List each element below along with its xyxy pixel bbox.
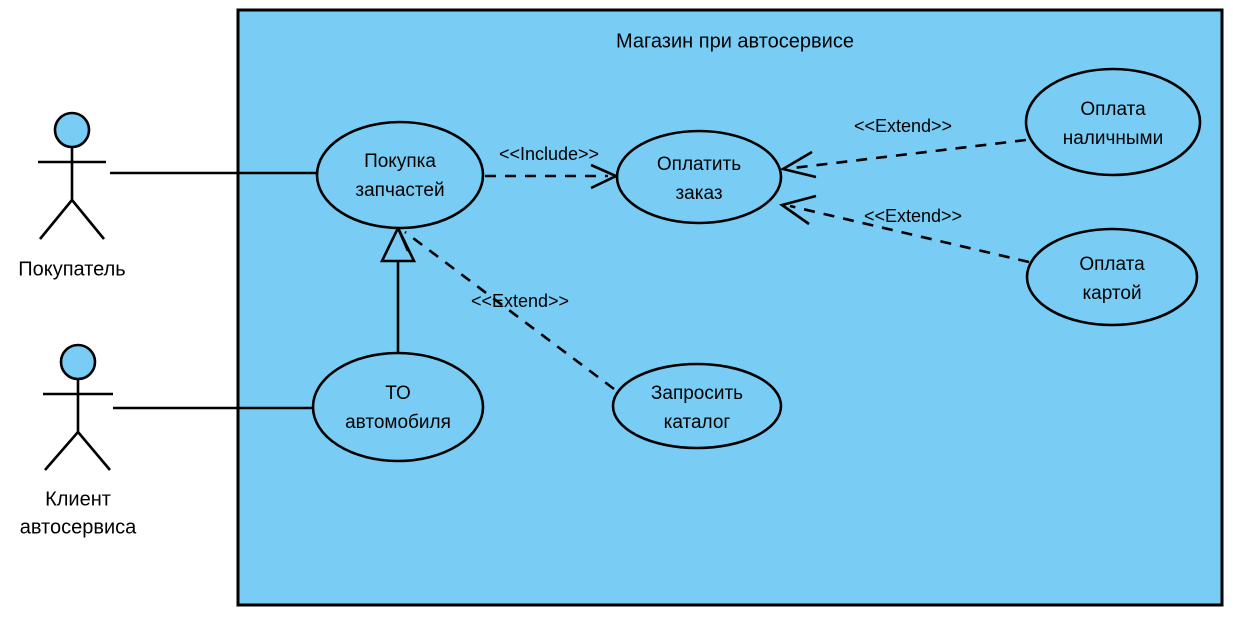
use-case-label-line-1: Запросить bbox=[651, 383, 743, 404]
use-case-diagram: Магазин при автосервисе <<Include>> <<Ex… bbox=[0, 0, 1233, 621]
include-stereotype-label: <<Include>> bbox=[499, 144, 599, 164]
use-case-zaprosit-katalog[interactable]: Запросить каталог bbox=[613, 364, 781, 448]
use-case-label-line-2: наличными bbox=[1063, 128, 1163, 149]
extend-nalichnymi-stereotype-label: <<Extend>> bbox=[854, 116, 952, 136]
use-case-label-line-1: Покупка bbox=[364, 151, 436, 172]
use-case-label-line-2: заказ bbox=[675, 183, 722, 204]
use-case-oplatit-zakaz[interactable]: Оплатить заказ bbox=[617, 131, 781, 223]
use-case-ellipse[interactable] bbox=[1027, 229, 1197, 325]
use-case-ellipse[interactable] bbox=[613, 364, 781, 448]
extend-katalog-stereotype-label: <<Extend>> bbox=[471, 291, 569, 311]
use-case-pokupka-zapchastey[interactable]: Покупка запчастей bbox=[317, 122, 483, 228]
system-boundary-title: Магазин при автосервисе bbox=[616, 30, 854, 52]
actor-right-leg-icon bbox=[78, 432, 110, 470]
use-case-label-line-2: автомобиля bbox=[345, 412, 451, 433]
use-case-label-line-1: Оплатить bbox=[657, 154, 741, 175]
extend-kartoy-stereotype-label: <<Extend>> bbox=[864, 206, 962, 226]
use-case-ellipse[interactable] bbox=[1026, 69, 1200, 175]
actor-left-leg-icon bbox=[45, 432, 78, 470]
actor-label-line-2: автосервиса bbox=[20, 516, 137, 538]
actor-left-leg-icon bbox=[40, 200, 72, 239]
use-case-label-line-2: каталог bbox=[664, 412, 731, 433]
use-case-label-line-1: Оплата bbox=[1080, 99, 1146, 120]
use-case-to-avtomobilya[interactable]: ТО автомобиля bbox=[313, 353, 483, 461]
use-case-label-line-2: запчастей bbox=[355, 180, 444, 201]
use-case-oplata-kartoy[interactable]: Оплата картой bbox=[1027, 229, 1197, 325]
use-case-ellipse[interactable] bbox=[313, 353, 483, 461]
actor-pokupatel[interactable]: Покупатель bbox=[18, 113, 125, 280]
use-case-ellipse[interactable] bbox=[617, 131, 781, 223]
actor-klient-avtoservisa[interactable]: Клиент автосервиса bbox=[20, 345, 137, 538]
diagram-canvas: Магазин при автосервисе <<Include>> <<Ex… bbox=[0, 0, 1233, 621]
actor-head-icon bbox=[61, 345, 95, 379]
use-case-label-line-1: Оплата bbox=[1079, 254, 1145, 275]
actor-head-icon bbox=[55, 113, 89, 147]
actor-right-leg-icon bbox=[72, 200, 104, 239]
use-case-label-line-2: картой bbox=[1082, 283, 1141, 304]
use-case-oplata-nalichnymi[interactable]: Оплата наличными bbox=[1026, 69, 1200, 175]
use-case-label-line-1: ТО bbox=[385, 383, 411, 404]
use-case-ellipse[interactable] bbox=[317, 122, 483, 228]
actor-label: Покупатель bbox=[18, 258, 125, 280]
actor-label-line-1: Клиент bbox=[45, 488, 111, 510]
